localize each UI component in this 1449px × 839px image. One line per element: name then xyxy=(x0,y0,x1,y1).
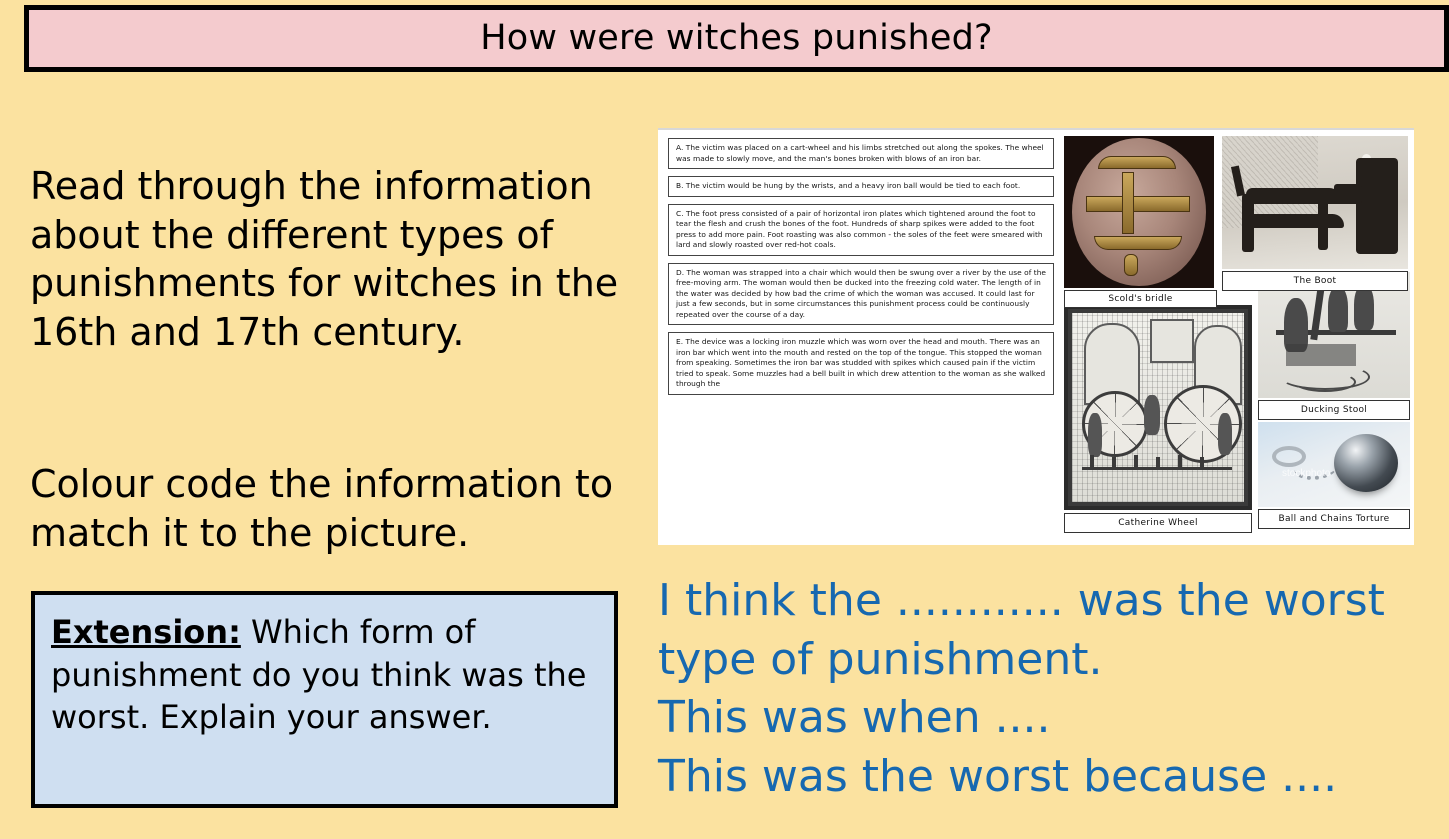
slide-title-banner: How were witches punished? xyxy=(24,5,1449,72)
bridle-lock-ring xyxy=(1124,254,1138,276)
engraving-stake-5 xyxy=(1178,455,1182,469)
boot-wooden-block xyxy=(1356,158,1398,254)
the-boot-photo xyxy=(1222,136,1408,269)
stock-photo-watermark: stockphoto xyxy=(1282,468,1330,479)
engraving-stake-1 xyxy=(1090,455,1094,469)
bridle-chin-strap xyxy=(1094,236,1182,250)
bridle-vertical-bar xyxy=(1122,172,1134,234)
caption-the-boot: The Boot xyxy=(1222,271,1408,291)
bridle-head-strap xyxy=(1098,156,1176,169)
caption-scolds-bridle: Scold's bridle xyxy=(1064,290,1217,308)
page-title: How were witches punished? xyxy=(480,21,993,56)
sentence-starter-line-3: This was when .... xyxy=(658,689,1448,748)
catherine-wheel-engraving xyxy=(1064,305,1252,510)
information-text-column: A. The victim was placed on a cart-wheel… xyxy=(668,138,1054,402)
sentence-starters: I think the ............ was the worst t… xyxy=(658,572,1448,806)
engraving-stake-2 xyxy=(1112,457,1116,469)
info-block-c: C. The foot press consisted of a pair of… xyxy=(668,204,1054,256)
engraving-stake-3 xyxy=(1134,455,1138,469)
ball-and-chains-photo: stockphoto xyxy=(1258,422,1410,507)
ducking-official-1 xyxy=(1328,286,1348,332)
boot-clamp xyxy=(1334,184,1362,204)
engraving-figure-left xyxy=(1088,413,1102,457)
instruction-paragraph-1: Read through the information about the d… xyxy=(30,162,630,357)
resource-sheet-panel: A. The victim was placed on a cart-wheel… xyxy=(658,128,1414,545)
sentence-starter-line-2: type of punishment. xyxy=(658,631,1448,690)
info-block-e: E. The device was a locking iron muzzle … xyxy=(668,332,1054,395)
extension-label: Extension: xyxy=(51,613,241,651)
caption-ducking-stool: Ducking Stool xyxy=(1258,400,1410,420)
boot-lower-plate xyxy=(1248,214,1344,228)
punishment-images-column: stockphoto Scold's bridle The Boot Cathe… xyxy=(1062,132,1412,544)
engraving-stake-4 xyxy=(1156,457,1160,469)
ducking-ripple-2 xyxy=(1294,372,1356,392)
caption-ball-and-chains: Ball and Chains Torture xyxy=(1258,509,1410,529)
extension-task-box: Extension: Which form of punishment do y… xyxy=(31,591,618,808)
extension-text: Extension: Which form of punishment do y… xyxy=(51,611,600,739)
info-block-a: A. The victim was placed on a cart-wheel… xyxy=(668,138,1054,169)
boot-upper-plate xyxy=(1246,188,1342,204)
scolds-bridle-photo xyxy=(1064,136,1214,288)
engraving-figure-right xyxy=(1218,413,1232,455)
sentence-starter-line-4: This was the worst because .... xyxy=(658,748,1448,807)
iron-ball xyxy=(1334,434,1398,492)
ducking-water-reflection xyxy=(1286,344,1356,366)
info-block-b: B. The victim would be hung by the wrist… xyxy=(668,176,1054,197)
caption-catherine-wheel: Catherine Wheel xyxy=(1064,513,1252,533)
instruction-paragraph-2: Colour code the information to match it … xyxy=(30,460,630,557)
info-block-d: D. The woman was strapped into a chair w… xyxy=(668,263,1054,326)
engraving-window xyxy=(1150,319,1194,363)
sentence-starter-line-1: I think the ............ was the worst xyxy=(658,572,1448,631)
engraving-figure-centre xyxy=(1144,395,1160,435)
engraving-stake-6 xyxy=(1200,457,1204,469)
bridle-face-plate xyxy=(1086,196,1190,212)
